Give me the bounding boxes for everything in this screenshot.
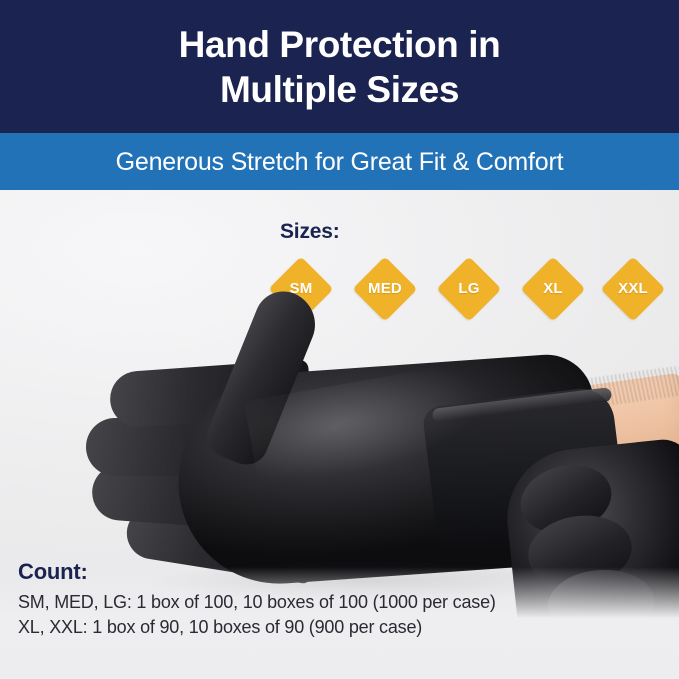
count-block: Count: SM, MED, LG: 1 box of 100, 10 box…: [18, 558, 658, 640]
count-heading: Count:: [18, 558, 658, 586]
count-line-large: XL, XXL: 1 box of 90, 10 boxes of 90 (90…: [18, 615, 658, 640]
product-infographic: Hand Protection in Multiple Sizes Genero…: [0, 0, 679, 679]
header-band: Hand Protection in Multiple Sizes: [0, 0, 679, 133]
sizes-label: Sizes:: [280, 220, 340, 244]
page-title-line-1: Hand Protection in: [179, 22, 501, 67]
subtitle-text: Generous Stretch for Great Fit & Comfort: [116, 147, 564, 177]
count-line-standard: SM, MED, LG: 1 box of 100, 10 boxes of 1…: [18, 590, 658, 615]
page-title-line-2: Multiple Sizes: [220, 67, 459, 112]
subtitle-band: Generous Stretch for Great Fit & Comfort: [0, 133, 679, 190]
